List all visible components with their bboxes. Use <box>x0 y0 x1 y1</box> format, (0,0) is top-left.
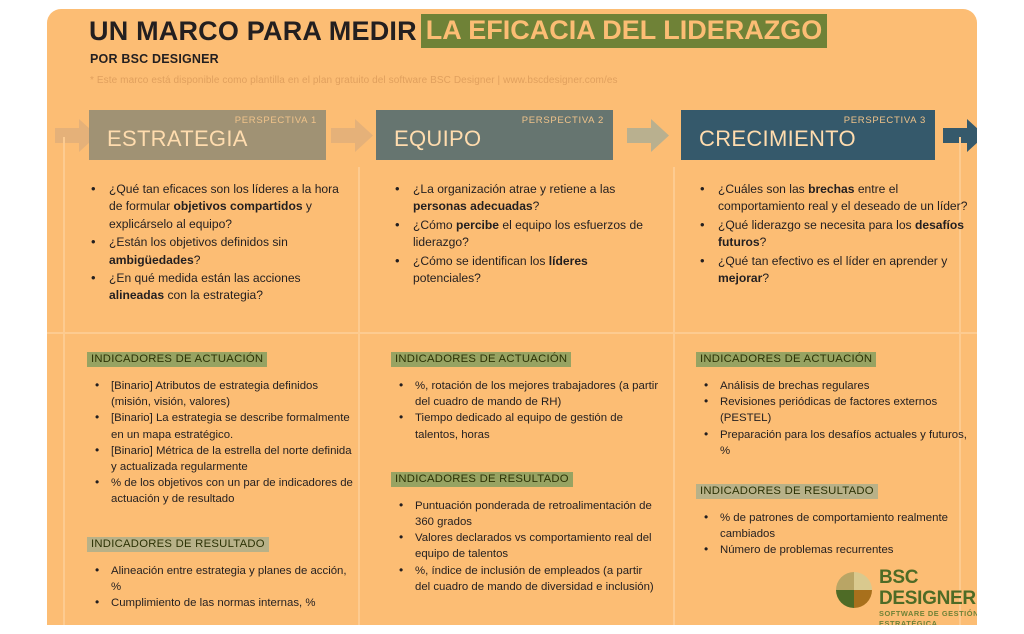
list-item: Puntuación ponderada de retroalimentació… <box>415 498 659 530</box>
list-item: ¿La organización atrae y retiene a las p… <box>411 181 659 216</box>
perspective-name-2: EQUIPO <box>394 126 481 152</box>
lagging-indicators-label-1: INDICADORES DE RESULTADO <box>87 537 269 552</box>
list-item: % de los objetivos con un par de indicad… <box>111 475 355 507</box>
flow-arrow-icon-1 <box>331 119 373 152</box>
title-main-text: UN MARCO PARA MEDIR <box>89 15 417 47</box>
list-item: ¿Están los objetivos definidos sin ambig… <box>107 234 355 269</box>
list-item: Valores declarados vs comportamiento rea… <box>415 530 659 562</box>
question-list-3: ¿Cuáles son las brechas entre el comport… <box>692 181 972 287</box>
leading-indicator-list-1: [Binario] Atributos de estrategia defini… <box>83 378 355 508</box>
infographic-canvas: UN MARCO PARA MEDIRLA EFICACIA DEL LIDER… <box>47 9 977 625</box>
leading-indicator-list-2: %, rotación de los mejores trabajadores … <box>387 378 659 443</box>
list-item: %, índice de inclusión de empleados (a p… <box>415 563 659 595</box>
list-item: ¿Cómo se identifican los líderes potenci… <box>411 253 659 288</box>
list-item: [Binario] La estrategia se describe form… <box>111 410 355 442</box>
indicators-column-2: INDICADORES DE ACTUACIÓN %, rotación de … <box>387 349 659 595</box>
indicators-column-3: INDICADORES DE ACTUACIÓN Análisis de bre… <box>692 349 972 559</box>
perspective-card-1[interactable]: PERSPECTIVA 1 ESTRATEGIA <box>89 110 326 160</box>
list-item: Número de problemas recurrentes <box>720 542 972 558</box>
leading-indicator-list-3: Análisis de brechas regulares Revisiones… <box>692 378 972 459</box>
list-item: [Binario] Métrica de la estrella del nor… <box>111 443 355 475</box>
list-item: ¿Cómo percibe el equipo los esfuerzos de… <box>411 217 659 252</box>
list-item: Revisiones periódicas de factores extern… <box>720 394 972 426</box>
list-item: Alineación entre estrategia y planes de … <box>111 563 355 595</box>
indicators-column-1: INDICADORES DE ACTUACIÓN [Binario] Atrib… <box>83 349 355 611</box>
grid-divider-vertical-2 <box>673 167 675 625</box>
grid-edge-left <box>63 137 65 625</box>
lagging-indicator-list-3: % de patrones de comportamiento realment… <box>692 510 972 559</box>
list-item: Preparación para los desafíos actuales y… <box>720 427 972 459</box>
leading-indicators-label-3: INDICADORES DE ACTUACIÓN <box>696 352 876 367</box>
list-item: [Binario] Atributos de estrategia defini… <box>111 378 355 410</box>
logo-text-block: BSC DESIGNER SOFTWARE DE GESTIÓN ESTRATÉ… <box>879 567 977 625</box>
page-title: UN MARCO PARA MEDIRLA EFICACIA DEL LIDER… <box>89 14 827 48</box>
lagging-indicator-list-1: Alineación entre estrategia y planes de … <box>83 563 355 612</box>
title-highlight-text: LA EFICACIA DEL LIDERAZGO <box>421 14 828 48</box>
list-item: Cumplimiento de las normas internas, % <box>111 595 355 611</box>
lagging-indicators-label-2: INDICADORES DE RESULTADO <box>391 472 573 487</box>
logo-name: BSC DESIGNER <box>879 567 977 609</box>
bsc-designer-logo[interactable]: BSC DESIGNER SOFTWARE DE GESTIÓN ESTRATÉ… <box>835 567 977 623</box>
byline: POR BSC DESIGNER <box>90 52 219 66</box>
lagging-indicators-label-3: INDICADORES DE RESULTADO <box>696 484 878 499</box>
question-list-2: ¿La organización atrae y retiene a las p… <box>387 181 659 287</box>
lagging-indicator-list-2: Puntuación ponderada de retroalimentació… <box>387 498 659 595</box>
perspective-name-3: CRECIMIENTO <box>699 126 856 152</box>
list-item: ¿Qué tan eficaces son los líderes a la h… <box>107 181 355 233</box>
list-item: % de patrones de comportamiento realment… <box>720 510 972 542</box>
questions-column-2: ¿La organización atrae y retiene a las p… <box>387 181 659 288</box>
logo-tagline: SOFTWARE DE GESTIÓN ESTRATÉGICA <box>879 609 977 625</box>
quadrant-circle-icon <box>835 571 873 609</box>
leading-indicators-label-1: INDICADORES DE ACTUACIÓN <box>87 352 267 367</box>
question-list-1: ¿Qué tan eficaces son los líderes a la h… <box>83 181 355 305</box>
list-item: %, rotación de los mejores trabajadores … <box>415 378 659 410</box>
list-item: ¿Qué liderazgo se necesita para los desa… <box>716 217 972 252</box>
flow-arrow-icon-2 <box>627 119 669 152</box>
footnote-text: * Este marco está disponible como planti… <box>90 75 618 86</box>
questions-column-3: ¿Cuáles son las brechas entre el comport… <box>692 181 972 288</box>
grid-divider-vertical-1 <box>358 167 360 625</box>
perspective-name-1: ESTRATEGIA <box>107 126 248 152</box>
list-item: Análisis de brechas regulares <box>720 378 972 394</box>
grid-divider-horizontal <box>47 332 977 334</box>
list-item: ¿Cuáles son las brechas entre el comport… <box>716 181 972 216</box>
leading-indicators-label-2: INDICADORES DE ACTUACIÓN <box>391 352 571 367</box>
perspective-band: PERSPECTIVA 1 ESTRATEGIA PERSPECTIVA 2 E… <box>47 105 977 167</box>
perspective-number-1: PERSPECTIVA 1 <box>235 115 317 126</box>
perspective-number-3: PERSPECTIVA 3 <box>844 115 926 126</box>
perspective-number-2: PERSPECTIVA 2 <box>522 115 604 126</box>
perspective-card-2[interactable]: PERSPECTIVA 2 EQUIPO <box>376 110 613 160</box>
questions-column-1: ¿Qué tan eficaces son los líderes a la h… <box>83 181 355 306</box>
list-item: Tiempo dedicado al equipo de gestión de … <box>415 410 659 442</box>
list-item: ¿En qué medida están las acciones alinea… <box>107 270 355 305</box>
list-item: ¿Qué tan efectivo es el líder en aprende… <box>716 253 972 288</box>
perspective-card-3[interactable]: PERSPECTIVA 3 CRECIMIENTO <box>681 110 935 160</box>
